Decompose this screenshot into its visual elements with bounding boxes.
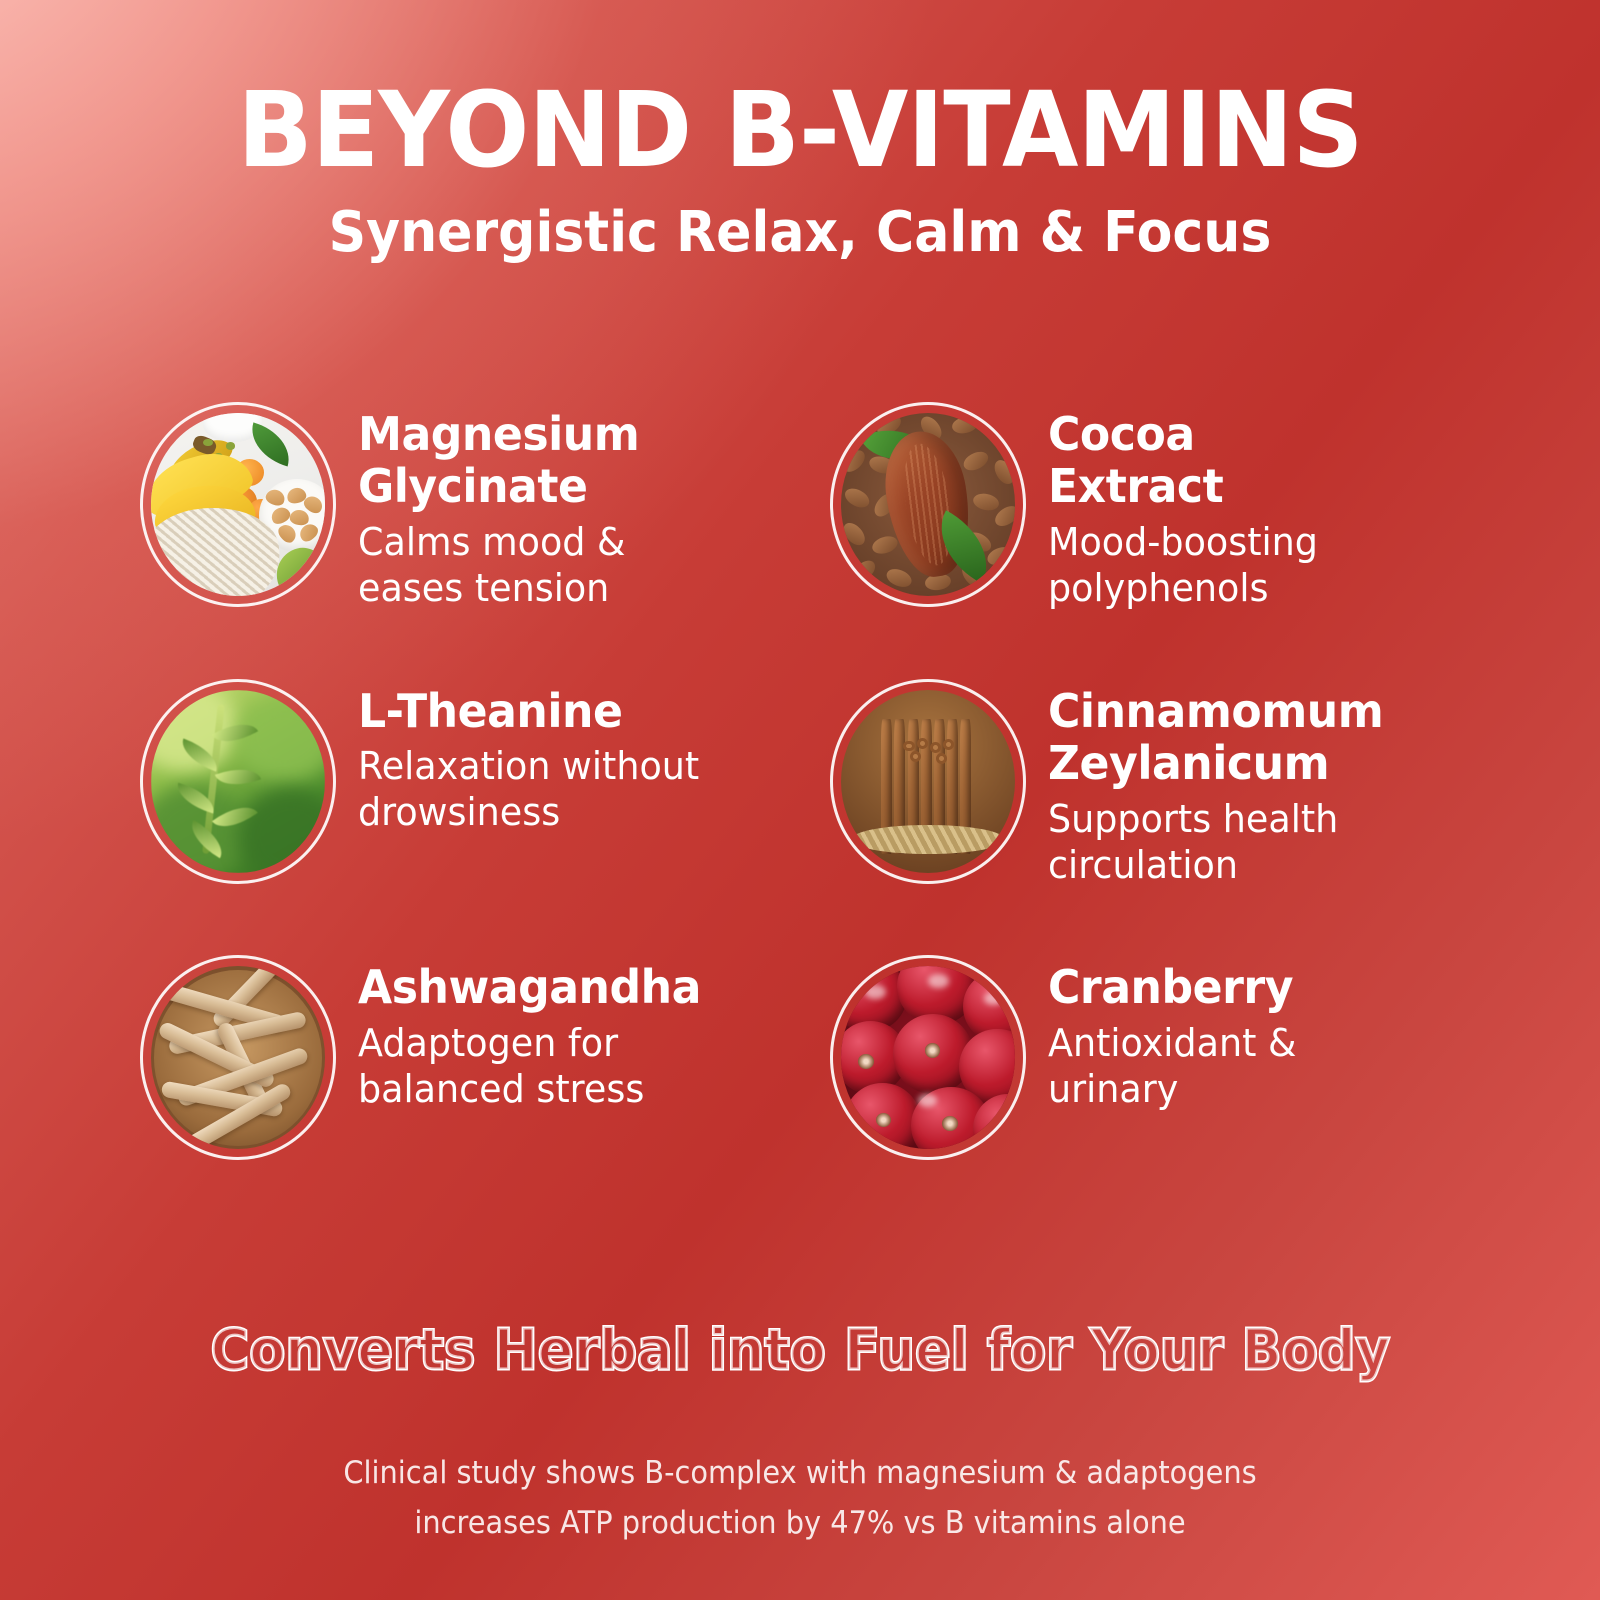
page-subtitle: Synergistic Relax, Calm & Focus [56, 204, 1544, 263]
badge-ring [140, 402, 336, 607]
ingredient-name: Cocoa Extract [1048, 408, 1318, 513]
ingredient-description: Antioxidant & urinary [1048, 1020, 1296, 1113]
ingredient-name: Cinnamomum Zeylanicum [1048, 685, 1383, 790]
footer-headline-text: Converts Herbal into Fuel for Your Body [210, 1318, 1389, 1383]
footer-fine-print: Clinical study shows B-complex with magn… [56, 1448, 1544, 1548]
ingredient-text: Magnesium Glycinate Calms mood & eases t… [336, 398, 651, 612]
ingredient-description: Mood-boosting polyphenols [1048, 519, 1318, 612]
ingredient-card-magnesium-glycinate: Magnesium Glycinate Calms mood & eases t… [140, 398, 830, 675]
ingredient-text: Ashwagandha Adaptogen for balanced stres… [336, 951, 715, 1112]
ingredient-badge [140, 955, 336, 1160]
ingredient-name: Magnesium Glycinate [358, 408, 639, 513]
badge-ring [830, 955, 1026, 1160]
ingredient-description: Supports health circulation [1048, 796, 1383, 889]
infographic-poster: BEYOND B-VITAMINS Synergistic Relax, Cal… [0, 0, 1600, 1600]
ingredient-text: Cinnamomum Zeylanicum Supports health ci… [1026, 675, 1397, 889]
ingredient-card-ashwagandha: Ashwagandha Adaptogen for balanced stres… [140, 951, 830, 1228]
ingredient-badge [830, 402, 1026, 607]
ingredient-name: Ashwagandha [358, 961, 701, 1013]
ingredient-badge [830, 955, 1026, 1160]
ingredient-badge [140, 402, 336, 607]
footer-headline: Converts Herbal into Fuel for Your Body [0, 1318, 1600, 1383]
ingredient-badge [830, 679, 1026, 884]
badge-ring [830, 402, 1026, 607]
ingredient-description: Calms mood & eases tension [358, 519, 639, 612]
badge-ring [140, 679, 336, 884]
page-title: BEYOND B-VITAMINS [40, 78, 1560, 182]
fine-print-line-1: Clinical study shows B-complex with magn… [56, 1448, 1544, 1498]
ingredient-badge [140, 679, 336, 884]
ingredient-name: Cranberry [1048, 961, 1296, 1013]
ingredient-text: L-Theanine Relaxation without drowsiness [336, 675, 713, 836]
badge-ring [830, 679, 1026, 884]
ingredient-text: Cranberry Antioxidant & urinary [1026, 951, 1307, 1112]
ingredient-card-cocoa-extract: Cocoa Extract Mood-boosting polyphenols [830, 398, 1470, 675]
ingredient-grid: Magnesium Glycinate Calms mood & eases t… [140, 398, 1470, 1228]
ingredient-card-l-theanine: L-Theanine Relaxation without drowsiness [140, 675, 830, 952]
ingredient-text: Cocoa Extract Mood-boosting polyphenols [1026, 398, 1329, 612]
ingredient-card-cranberry: Cranberry Antioxidant & urinary [830, 951, 1470, 1228]
ingredient-description: Relaxation without drowsiness [358, 743, 699, 836]
ingredient-description: Adaptogen for balanced stress [358, 1020, 701, 1113]
badge-ring [140, 955, 336, 1160]
ingredient-card-cinnamomum-zeylanicum: Cinnamomum Zeylanicum Supports health ci… [830, 675, 1470, 952]
header: BEYOND B-VITAMINS Synergistic Relax, Cal… [0, 78, 1600, 263]
fine-print-line-2: increases ATP production by 47% vs B vit… [56, 1498, 1544, 1548]
ingredient-name: L-Theanine [358, 685, 699, 737]
